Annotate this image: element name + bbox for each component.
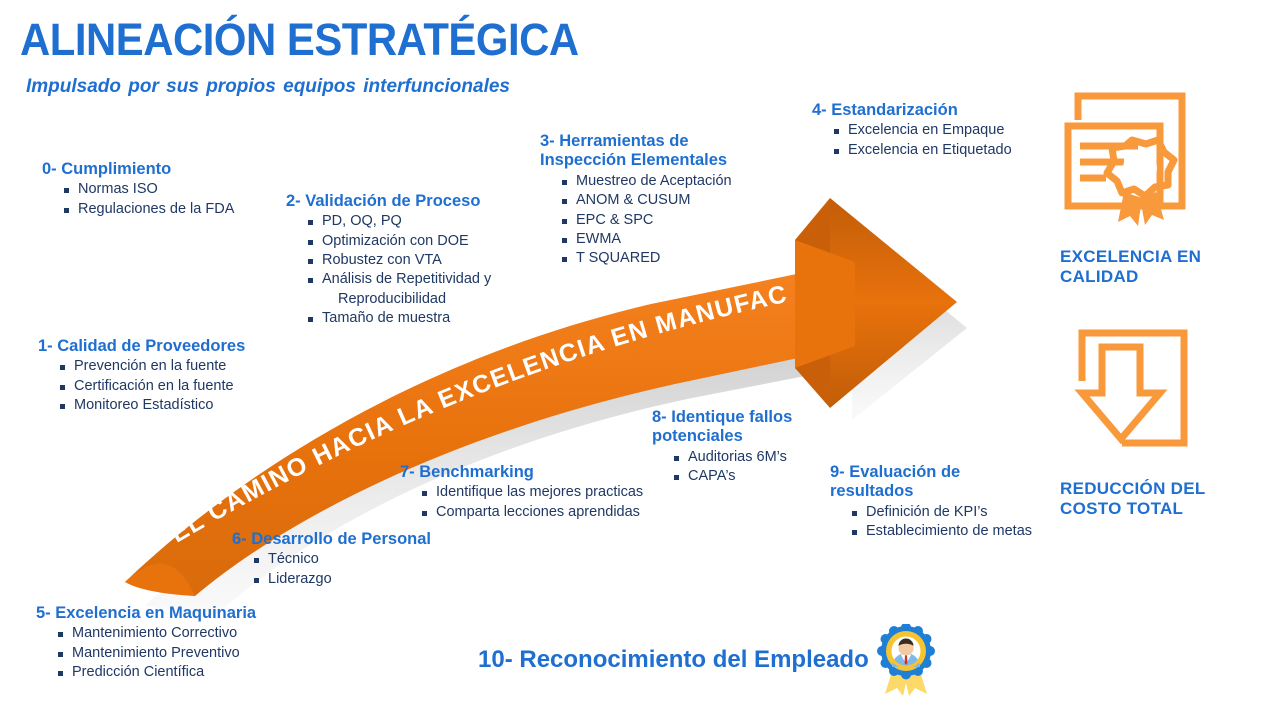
step-title: 2- Validación de Proceso bbox=[286, 192, 491, 211]
list-item: Optimización con DOE bbox=[308, 232, 491, 251]
slide-canvas: ALINEACIÓN ESTRATÉGICA Impulsado por sus… bbox=[0, 0, 1280, 720]
step-title: 9- Evaluación de resultados bbox=[830, 463, 1032, 502]
step-block-1: 1- Calidad de Proveedores Prevención en … bbox=[38, 337, 245, 415]
list-item: ANOM & CUSUM bbox=[562, 191, 732, 210]
outcome-label: REDUCCIÓN DEL COSTO TOTAL bbox=[1060, 479, 1260, 520]
outcome-quality-excellence: EXCELENCIA EN CALIDAD bbox=[1060, 88, 1260, 288]
step-title: 5- Excelencia en Maquinaria bbox=[36, 604, 256, 623]
step-block-4: 4- Estandarización Excelencia en Empaque… bbox=[812, 101, 1012, 160]
step-bullet-list: Prevención en la fuente Certificación en… bbox=[38, 357, 245, 415]
list-item: Regulaciones de la FDA bbox=[64, 200, 234, 219]
step-title: 6- Desarrollo de Personal bbox=[232, 530, 431, 549]
list-item: Robustez con VTA bbox=[308, 251, 491, 270]
list-item: Comparta lecciones aprendidas bbox=[422, 503, 643, 522]
list-item: Técnico bbox=[254, 550, 431, 569]
step-block-2: 2- Validación de Proceso PD, OQ, PQ Opti… bbox=[286, 192, 491, 328]
step-block-8: 8- Identique fallos potenciales Auditori… bbox=[652, 408, 792, 487]
outcome-cost-reduction: REDUCCIÓN DEL COSTO TOTAL bbox=[1060, 325, 1260, 520]
list-item: Tamaño de muestra bbox=[308, 309, 491, 328]
step-block-6: 6- Desarrollo de Personal Técnico Lidera… bbox=[232, 530, 431, 589]
step-block-10: 10- Reconocimiento del Empleado bbox=[478, 624, 935, 696]
step-title: 1- Calidad de Proveedores bbox=[38, 337, 245, 356]
page-subtitle: Impulsado por sus propios equipos interf… bbox=[26, 76, 510, 98]
employee-award-badge-icon bbox=[877, 624, 935, 696]
step-bullet-list: Identifique las mejores practicas Compar… bbox=[400, 483, 643, 522]
list-item: PD, OQ, PQ bbox=[308, 212, 491, 231]
step-bullet-list: Normas ISO Regulaciones de la FDA bbox=[42, 180, 234, 219]
list-item: Muestreo de Aceptación bbox=[562, 172, 732, 191]
list-item: Excelencia en Etiquetado bbox=[834, 141, 1012, 160]
page-title: ALINEACIÓN ESTRATÉGICA bbox=[20, 14, 579, 66]
list-item: Establecimiento de metas bbox=[852, 522, 1032, 541]
step-title: 8- Identique fallos potenciales bbox=[652, 408, 792, 447]
outcome-label: EXCELENCIA EN CALIDAD bbox=[1060, 247, 1260, 288]
list-item: Monitoreo Estadístico bbox=[60, 396, 245, 415]
list-item: EPC & SPC bbox=[562, 211, 732, 230]
list-item: Análisis de Repetitividad y bbox=[308, 270, 491, 289]
list-item: Identifique las mejores practicas bbox=[422, 483, 643, 502]
step-block-0: 0- Cumplimiento Normas ISO Regulaciones … bbox=[42, 160, 234, 219]
step-block-9: 9- Evaluación de resultados Definición d… bbox=[830, 463, 1032, 542]
step-title: 0- Cumplimiento bbox=[42, 160, 234, 179]
list-item-continuation: Reproducibilidad bbox=[308, 290, 491, 309]
list-item: Auditorias 6M’s bbox=[674, 448, 792, 467]
step-block-3: 3- Herramientas de Inspección Elementale… bbox=[540, 132, 732, 268]
step-bullet-list: Excelencia en Empaque Excelencia en Etiq… bbox=[812, 121, 1012, 160]
step-bullet-list: Muestreo de Aceptación ANOM & CUSUM EPC … bbox=[540, 172, 732, 268]
list-item: Mantenimiento Preventivo bbox=[58, 644, 256, 663]
list-item: Normas ISO bbox=[64, 180, 234, 199]
step-block-5: 5- Excelencia en Maquinaria Mantenimient… bbox=[36, 604, 256, 682]
step-bullet-list: Definición de KPI’s Establecimiento de m… bbox=[830, 503, 1032, 542]
step-bullet-list: Técnico Liderazgo bbox=[232, 550, 431, 589]
list-item: Excelencia en Empaque bbox=[834, 121, 1012, 140]
step-bullet-list: PD, OQ, PQ Optimización con DOE Robustez… bbox=[286, 212, 491, 328]
certificate-icon bbox=[1060, 88, 1210, 238]
list-item: EWMA bbox=[562, 230, 732, 249]
list-item: T SQUARED bbox=[562, 249, 732, 268]
cost-reduction-arrow-icon bbox=[1060, 325, 1210, 470]
step-bullet-list: Mantenimiento Correctivo Mantenimiento P… bbox=[36, 624, 256, 682]
list-item: Predicción Científica bbox=[58, 663, 256, 682]
step-title: 7- Benchmarking bbox=[400, 463, 643, 482]
list-item: CAPA’s bbox=[674, 467, 792, 486]
list-item: Mantenimiento Correctivo bbox=[58, 624, 256, 643]
list-item: Certificación en la fuente bbox=[60, 377, 245, 396]
list-item: Liderazgo bbox=[254, 570, 431, 589]
step-bullet-list: Auditorias 6M’s CAPA’s bbox=[652, 448, 792, 487]
list-item: Prevención en la fuente bbox=[60, 357, 245, 376]
step-title: 3- Herramientas de Inspección Elementale… bbox=[540, 132, 732, 171]
list-item: Definición de KPI’s bbox=[852, 503, 1032, 522]
step-title: 4- Estandarización bbox=[812, 101, 1012, 120]
step-block-7: 7- Benchmarking Identifique las mejores … bbox=[400, 463, 643, 522]
step-title: 10- Reconocimiento del Empleado bbox=[478, 646, 869, 674]
